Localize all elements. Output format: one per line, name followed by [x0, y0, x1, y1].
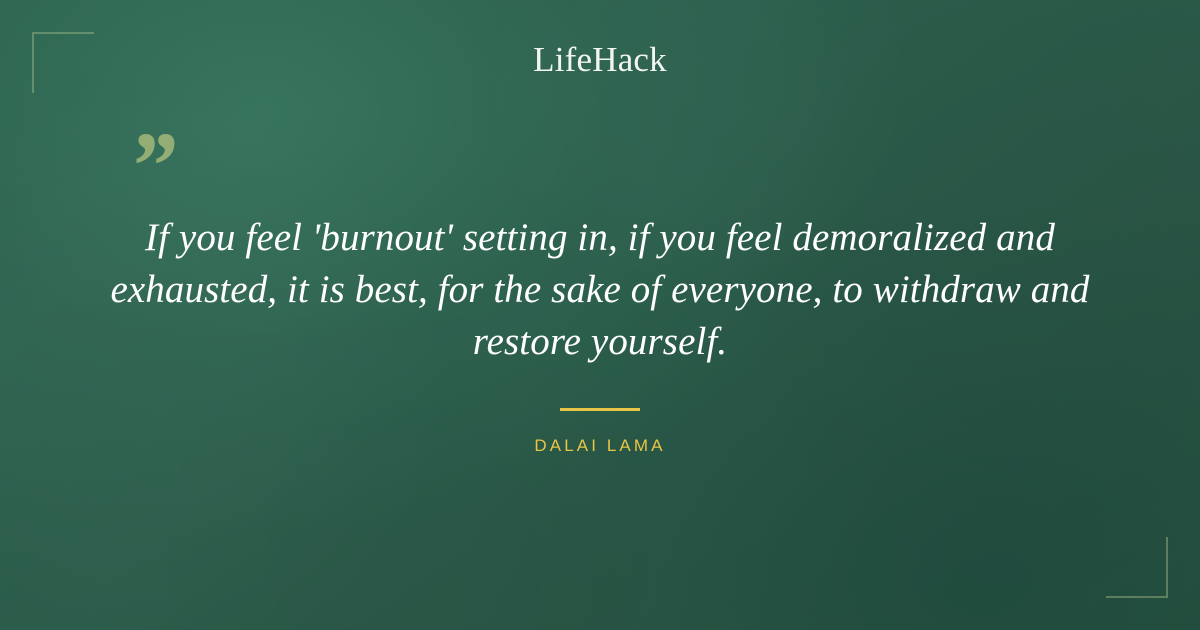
- quote-author: DALAI LAMA: [0, 436, 1200, 456]
- quote-mark-icon: ”: [128, 118, 176, 214]
- quote-card: LifeHack ” If you feel 'burnout' setting…: [0, 0, 1200, 630]
- corner-bracket-bottom-right-icon: [1106, 537, 1168, 598]
- attribution-divider: [560, 408, 640, 411]
- brand-logo: LifeHack: [0, 40, 1200, 80]
- quote-body: If you feel 'burnout' setting in, if you…: [100, 212, 1100, 368]
- attribution-block: DALAI LAMA: [0, 400, 1200, 456]
